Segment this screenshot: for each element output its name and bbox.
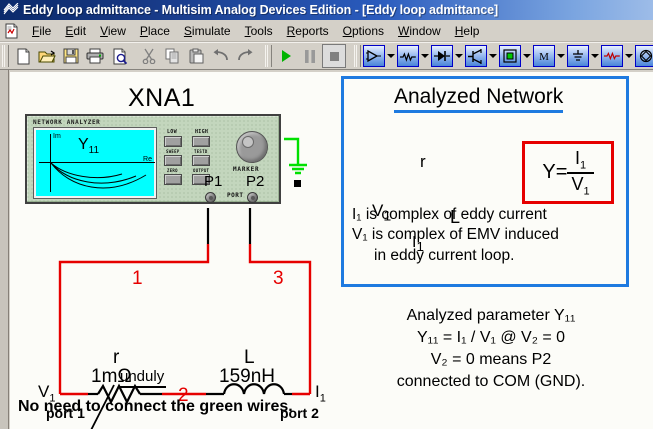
print-preview-icon[interactable] bbox=[107, 44, 131, 68]
na-button-low[interactable] bbox=[164, 136, 182, 147]
na-button-zero[interactable] bbox=[164, 174, 182, 185]
com-terminal[interactable] bbox=[294, 180, 301, 187]
rf-icon[interactable] bbox=[601, 45, 623, 67]
port1-jack[interactable] bbox=[205, 192, 216, 203]
parameter-line-3: V₂ = 0 means P2 bbox=[341, 349, 641, 371]
analog-dropdown-caret[interactable] bbox=[521, 44, 533, 68]
parameter-line-1: Analyzed parameter Y₁₁ bbox=[341, 305, 641, 327]
menu-place[interactable]: Place bbox=[133, 22, 177, 40]
net-label-3: 3 bbox=[273, 268, 284, 290]
window-title: Eddy loop admittance - Multisim Analog D… bbox=[23, 3, 498, 17]
main-toolbar: M bbox=[0, 42, 653, 70]
port2-jack[interactable] bbox=[247, 192, 258, 203]
misc-digital-icon[interactable]: M bbox=[533, 45, 555, 67]
sources-icon[interactable] bbox=[363, 45, 385, 67]
toolbar-grip[interactable] bbox=[2, 45, 9, 67]
na-button-sweep-label: SWEEP bbox=[166, 149, 180, 154]
na-button-testd-label: TESTD bbox=[194, 149, 208, 154]
analog-ic-icon[interactable] bbox=[499, 45, 521, 67]
i1-label: I1 bbox=[315, 382, 326, 404]
digital-dropdown-caret[interactable] bbox=[555, 44, 567, 68]
print-icon[interactable] bbox=[83, 44, 107, 68]
description-line-2: V₁ is complex of EMV induced bbox=[352, 225, 559, 245]
analyzed-network-panel: Analyzed Network V1 r L I1 Y= I1 bbox=[341, 76, 629, 287]
schematic-canvas[interactable]: XNA1 NETWORK ANALYZER Im Re Y11 bbox=[10, 72, 653, 429]
multisim-logo-icon bbox=[3, 3, 19, 17]
analyzed-network-description: I₁ is complex of eddy current V₁ is comp… bbox=[352, 205, 559, 266]
transistors-icon[interactable] bbox=[465, 45, 487, 67]
menu-view[interactable]: View bbox=[93, 22, 133, 40]
run-play-icon[interactable] bbox=[274, 44, 298, 68]
menu-reports[interactable]: Reports bbox=[280, 22, 336, 40]
analyzed-parameter-text: Analyzed parameter Y₁₁ Y₁₁ = I₁ / V₁ @ V… bbox=[341, 305, 641, 393]
application-window: Eddy loop admittance - Multisim Analog D… bbox=[0, 0, 653, 429]
sources-dropdown-caret[interactable] bbox=[385, 44, 397, 68]
marker-knob[interactable] bbox=[236, 131, 268, 163]
marker-knob-label: MARKER bbox=[233, 166, 259, 173]
formula-fraction: I1 V1 bbox=[567, 148, 593, 197]
diodes-icon[interactable] bbox=[431, 45, 453, 67]
formula-lhs: Y= bbox=[542, 161, 567, 184]
admittance-trace bbox=[36, 130, 158, 200]
port2-label: P2 bbox=[246, 173, 264, 190]
undo-icon[interactable] bbox=[209, 44, 233, 68]
description-line-3: in eddy current loop. bbox=[352, 246, 559, 266]
cut-scissors-icon[interactable] bbox=[137, 44, 161, 68]
indicators-icon[interactable] bbox=[635, 45, 653, 67]
diodes-dropdown-caret[interactable] bbox=[453, 44, 465, 68]
copy-icon[interactable] bbox=[161, 44, 185, 68]
network-analyzer-instrument[interactable]: NETWORK ANALYZER Im Re Y11 bbox=[25, 114, 281, 204]
na-button-low-label: LOW bbox=[167, 129, 177, 135]
na-button-high[interactable] bbox=[192, 136, 210, 147]
toolbar-grip-sim[interactable] bbox=[265, 45, 272, 67]
open-folder-icon[interactable] bbox=[35, 44, 59, 68]
parameter-line-4: connected to COM (GND). bbox=[341, 371, 641, 393]
na-button-high-label: HIGH bbox=[195, 129, 208, 135]
basic-passive-icon[interactable] bbox=[397, 45, 419, 67]
title-bar[interactable]: Eddy loop admittance - Multisim Analog D… bbox=[0, 0, 653, 20]
left-scrollbar[interactable] bbox=[0, 70, 9, 429]
rf-dropdown-caret[interactable] bbox=[623, 44, 635, 68]
toolbar-grip-components[interactable] bbox=[354, 45, 361, 67]
instrument-panel-title: NETWORK ANALYZER bbox=[33, 119, 100, 126]
stop-icon[interactable] bbox=[322, 44, 346, 68]
svg-text:M: M bbox=[539, 51, 549, 63]
redo-icon[interactable] bbox=[233, 44, 257, 68]
port1-label: P1 bbox=[204, 173, 222, 190]
menu-window[interactable]: Window bbox=[391, 22, 448, 40]
basic-dropdown-caret[interactable] bbox=[419, 44, 431, 68]
menu-edit[interactable]: Edit bbox=[58, 22, 93, 40]
document-icon[interactable] bbox=[3, 22, 21, 40]
inductor-value-label: 159nH bbox=[219, 366, 275, 388]
menu-simulate[interactable]: Simulate bbox=[177, 22, 238, 40]
description-line-1: I₁ is complex of eddy current bbox=[352, 205, 559, 225]
transistors-dropdown-caret[interactable] bbox=[487, 44, 499, 68]
parameter-line-2: Y₁₁ = I₁ / V₁ @ V₂ = 0 bbox=[341, 327, 641, 349]
na-button-zero-label: ZERO bbox=[167, 168, 178, 173]
paste-icon[interactable] bbox=[185, 44, 209, 68]
green-wire-note: No need to connect the green wires. bbox=[18, 398, 293, 416]
power-dropdown-caret[interactable] bbox=[589, 44, 601, 68]
instrument-display[interactable]: Im Re Y11 bbox=[34, 128, 156, 198]
pause-icon[interactable] bbox=[298, 44, 322, 68]
net-label-1: 1 bbox=[132, 268, 143, 290]
unduly-annotation: unduly bbox=[118, 368, 166, 388]
menu-tools[interactable]: Tools bbox=[238, 22, 280, 40]
save-disk-icon[interactable] bbox=[59, 44, 83, 68]
menu-bar: File Edit View Place Simulate Tools Repo… bbox=[0, 20, 653, 42]
menu-help[interactable]: Help bbox=[448, 22, 487, 40]
port-word-label: PORT bbox=[227, 192, 243, 199]
admittance-formula-box: Y= I1 V1 bbox=[522, 141, 614, 204]
na-button-sweep[interactable] bbox=[164, 155, 182, 166]
na-button-testd[interactable] bbox=[192, 155, 210, 166]
an-resistor-label: r bbox=[420, 152, 426, 172]
document-client-area: XNA1 NETWORK ANALYZER Im Re Y11 bbox=[0, 70, 653, 429]
new-document-icon[interactable] bbox=[11, 44, 35, 68]
analyzed-network-title: Analyzed Network bbox=[394, 85, 563, 113]
menu-file[interactable]: File bbox=[25, 22, 58, 40]
menu-options[interactable]: Options bbox=[336, 22, 391, 40]
instrument-reference-designator: XNA1 bbox=[128, 84, 195, 113]
power-icon[interactable] bbox=[567, 45, 589, 67]
